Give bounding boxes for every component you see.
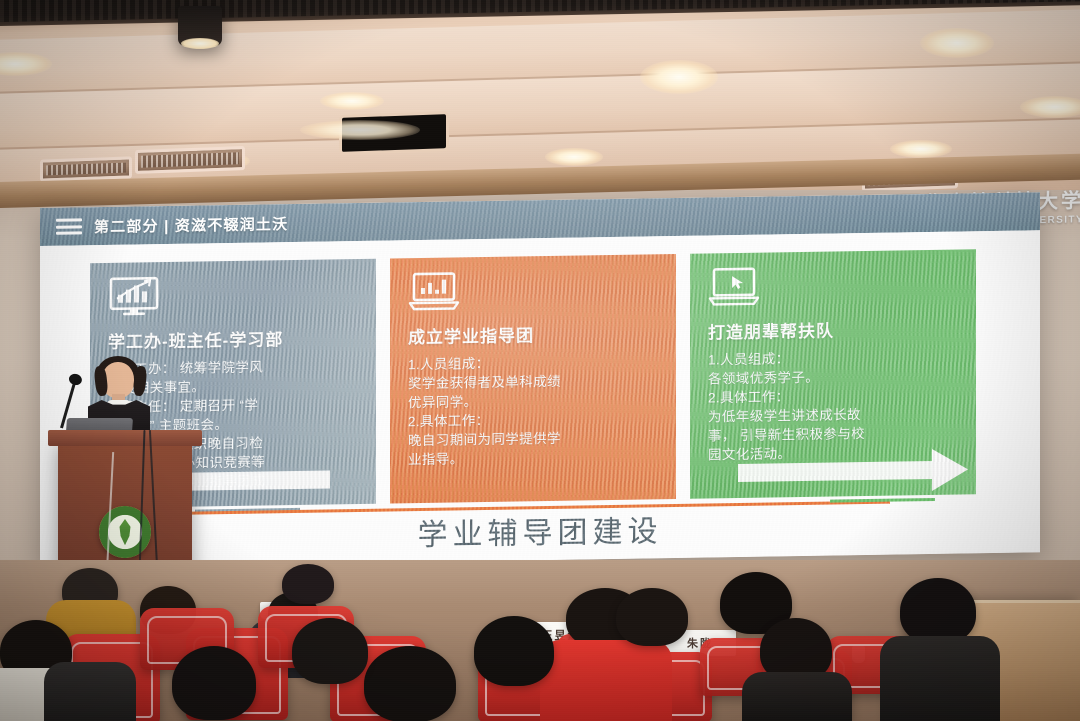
pendant-light	[178, 6, 222, 46]
panel-green: 打造朋辈帮扶队 1.人员组成： 各领域优秀学子。 2.具体工作： 为低年级学生讲…	[690, 249, 976, 498]
panel-green-body: 1.人员组成： 各领域优秀学子。 2.具体工作： 为低年级学生讲述成长故 事， …	[708, 347, 962, 465]
ac-vent	[135, 146, 245, 174]
panel-orange-body: 1.人员组成： 奖学金获得者及单科成绩 优异同学。 2.具体工作： 晚自习期间为…	[408, 351, 662, 469]
recessed-light	[640, 60, 718, 94]
panel-group: 学工办-班主任-学习部 1.学工办： 统筹学院学风 建设相关事宜。 2.班主任：…	[90, 249, 976, 508]
audience-head	[364, 646, 456, 721]
ac-vent	[40, 156, 132, 181]
panel-green-title: 打造朋辈帮扶队	[708, 315, 962, 344]
recessed-light	[920, 28, 994, 58]
panel-line: 园文化活动。	[708, 442, 962, 465]
laptop-bar-chart-icon	[408, 271, 460, 312]
recessed-light	[320, 92, 384, 110]
hamburger-icon	[56, 218, 82, 234]
audience-body	[44, 662, 136, 721]
monitor-chart-icon	[108, 276, 160, 317]
recessed-light	[1020, 96, 1080, 118]
panel-orange: 成立学业指导团 1.人员组成： 奖学金获得者及单科成绩 优异同学。 2.具体工作…	[390, 254, 676, 503]
slide-section-title: 第二部分 | 资滋不辍润土沃	[94, 213, 288, 237]
panel-blue-title: 学工办-班主任-学习部	[108, 324, 362, 353]
panel-orange-title: 成立学业指导团	[408, 319, 662, 348]
audience-head	[282, 564, 334, 604]
laptop-cursor-icon	[708, 267, 760, 308]
audience-body	[540, 640, 672, 721]
audience-body	[742, 672, 852, 721]
audience-head	[292, 618, 368, 684]
recessed-light	[890, 140, 952, 158]
panel-line: 业指导。	[408, 446, 662, 469]
lecture-hall-photo: 西北农林科技大学 NORTHWEST A&F UNIVERSITY 第二部分 |…	[0, 0, 1080, 721]
recessed-light	[545, 148, 603, 166]
audience-head	[474, 616, 554, 686]
audience-head	[172, 646, 256, 720]
audience-head	[616, 588, 688, 646]
podium-top	[48, 430, 202, 446]
recessed-light	[300, 120, 420, 140]
audience-head	[900, 578, 976, 644]
audience-body	[880, 636, 1000, 721]
speaker-hair-side	[132, 365, 147, 396]
